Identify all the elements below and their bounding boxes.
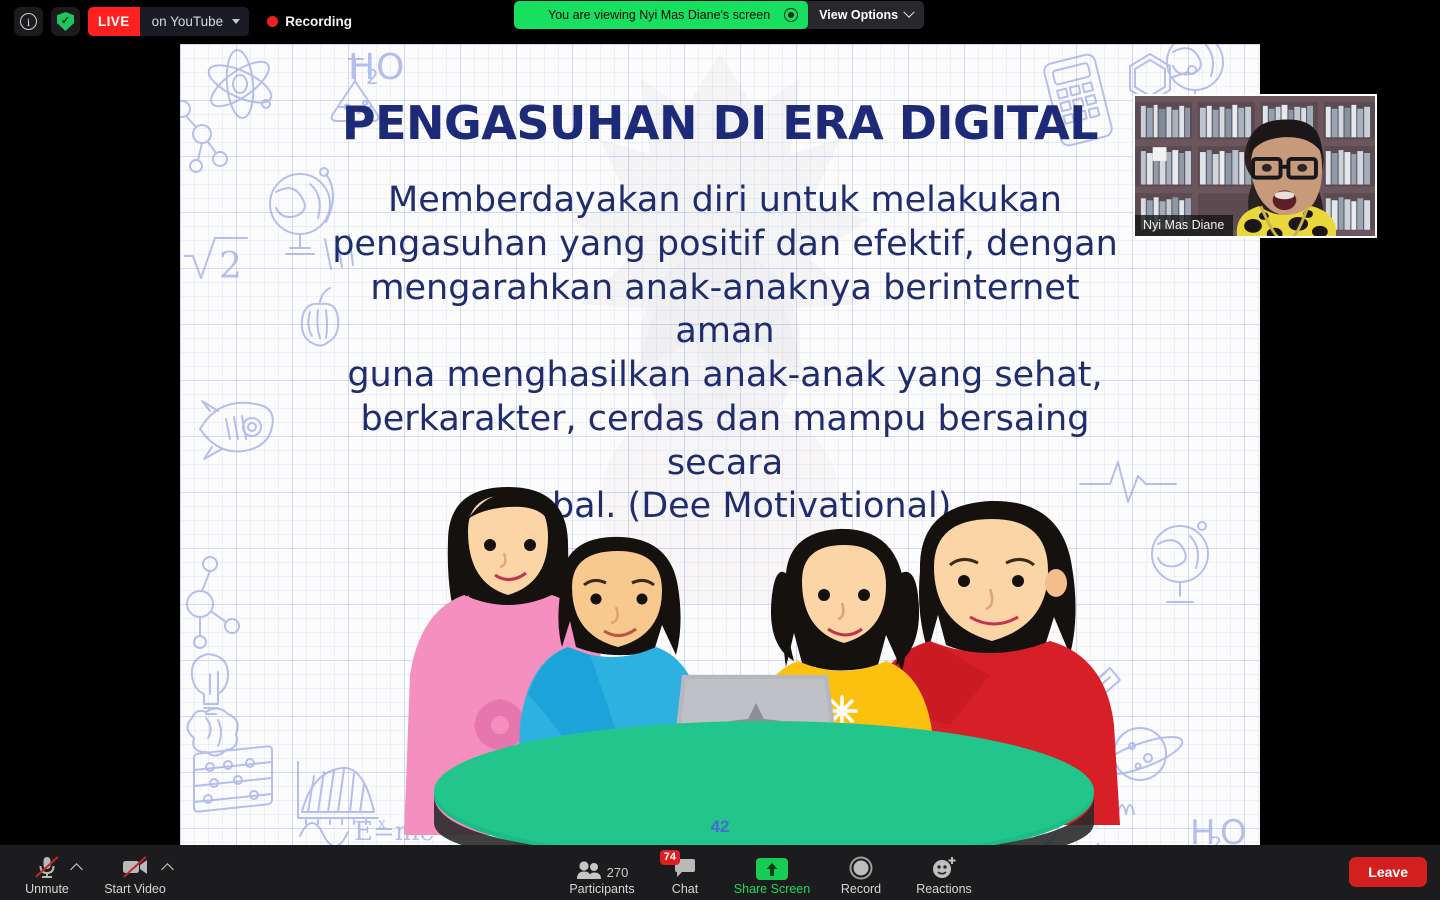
shared-screen-stage[interactable]: H 2 O 2 (180, 44, 1260, 845)
share-screen-button[interactable]: Share Screen (727, 854, 817, 897)
viewing-screen-label: You are viewing Nyi Mas Diane's screen (548, 8, 770, 22)
meeting-info-button[interactable]: i (14, 7, 43, 36)
leave-button[interactable]: Leave (1349, 857, 1427, 887)
unmute-label: Unmute (25, 883, 69, 897)
recording-ring-icon (784, 8, 798, 22)
chat-unread-badge: 74 (660, 850, 680, 865)
record-button[interactable]: Record (816, 854, 906, 897)
chevron-down-icon (903, 7, 914, 18)
chat-label: Chat (672, 883, 698, 897)
participants-label: Participants (569, 883, 634, 897)
smiley-plus-icon (931, 854, 957, 880)
view-options-label: View Options (819, 8, 898, 22)
recording-label: Recording (285, 14, 352, 29)
live-badge: LIVE (88, 7, 140, 36)
people-icon: 270 (576, 854, 629, 880)
audio-options-caret[interactable] (72, 865, 81, 874)
chat-button[interactable]: 74 Chat (640, 854, 730, 897)
record-dot-icon (267, 16, 278, 27)
start-video-label: Start Video (104, 883, 166, 897)
microphone-muted-icon (34, 854, 60, 880)
share-arrow-up-icon (756, 854, 788, 880)
live-platform-label: on YouTube (152, 14, 224, 29)
slide-body-line: mengarahkan anak-anaknya berinternet ama… (330, 267, 1120, 355)
slide-page-number: 42 (180, 817, 1260, 837)
info-circle-icon: i (20, 13, 37, 30)
viewing-screen-notice: You are viewing Nyi Mas Diane's screen (514, 1, 808, 29)
presentation-slide: H 2 O 2 (180, 44, 1260, 845)
svg-text:O: O (376, 47, 404, 88)
view-options-button[interactable]: View Options (808, 1, 924, 29)
live-platform-dropdown[interactable]: on YouTube (140, 7, 250, 36)
meeting-controls-toolbar: Unmute Start Video (0, 845, 1440, 900)
slide-body-line: guna menghasilkan anak-anak yang sehat, (330, 354, 1120, 398)
unmute-button[interactable]: Unmute (2, 854, 92, 897)
chat-bubble-icon: 74 (673, 854, 697, 880)
slide-body-line: Memberdayakan diri untuk melakukan (330, 179, 1120, 223)
encryption-status-button[interactable]: ✓ (51, 7, 80, 36)
reactions-label: Reactions (916, 883, 972, 897)
screen-share-status-bar: You are viewing Nyi Mas Diane's screen V… (514, 1, 924, 29)
slide-body-line: berkarakter, cerdas dan mampu bersaing s… (330, 398, 1120, 486)
live-stream-status[interactable]: LIVE on YouTube (88, 7, 249, 36)
svg-text:2: 2 (219, 246, 242, 287)
slide-title: PENGASUHAN DI ERA DIGITAL (180, 96, 1260, 150)
share-screen-label: Share Screen (734, 883, 810, 897)
record-label: Record (841, 883, 881, 897)
participant-name-label: Nyi Mas Diane (1135, 215, 1233, 236)
shield-check-icon: ✓ (57, 12, 74, 31)
zoom-meeting-window: i ✓ LIVE on YouTube Recording You (0, 0, 1440, 900)
slide-body-line: pengasuhan yang positif dan efektif, den… (330, 223, 1120, 267)
reactions-button[interactable]: Reactions (899, 854, 989, 897)
chevron-down-icon (232, 19, 240, 24)
meeting-top-bar: i ✓ LIVE on YouTube Recording You (0, 0, 1440, 44)
top-bar-left-group: i ✓ LIVE on YouTube Recording (14, 7, 352, 36)
participant-video-thumbnail[interactable]: Nyi Mas Diane (1133, 94, 1377, 238)
family-with-laptop-illustration (390, 475, 1150, 845)
participants-button[interactable]: 270 Participants (557, 854, 647, 897)
recording-indicator[interactable]: Recording (267, 14, 352, 29)
camera-off-icon (120, 854, 150, 880)
video-options-caret[interactable] (163, 865, 172, 874)
participants-count: 270 (607, 865, 629, 880)
record-circle-icon (849, 854, 873, 880)
